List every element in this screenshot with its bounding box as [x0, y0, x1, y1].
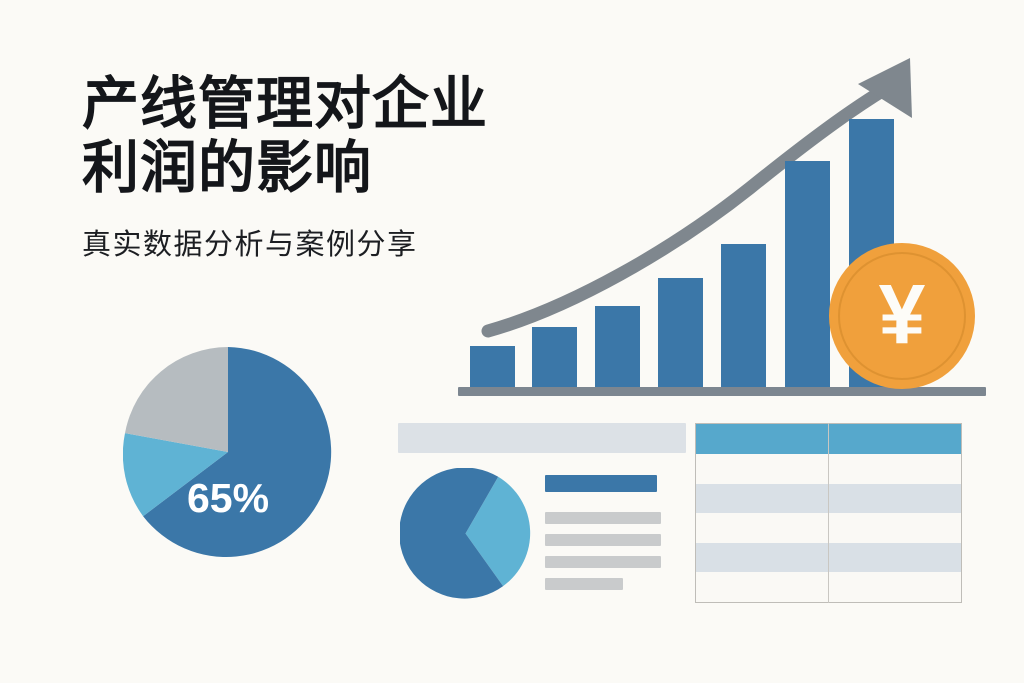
- panel-text-line-1: [545, 512, 661, 524]
- table-body: [696, 454, 962, 603]
- table-header-cell-2: [829, 424, 962, 455]
- panel-header-placeholder: [398, 423, 686, 453]
- table-row: [696, 543, 962, 573]
- table-cell: [696, 454, 829, 484]
- table-cell: [829, 484, 962, 514]
- table-cell: [829, 543, 962, 573]
- poster-canvas: 产线管理对企业 利润的影响 真实数据分析与案例分享 ¥ 65: [0, 0, 1024, 683]
- secondary-pie-svg: [400, 468, 531, 599]
- bar-1: [470, 346, 515, 388]
- table-header-row: [696, 424, 962, 455]
- table-header-cell-1: [696, 424, 829, 455]
- bar-3: [595, 306, 640, 388]
- primary-pie-svg: [123, 347, 333, 557]
- pie-center-label: 65%: [123, 475, 333, 522]
- table-row: [696, 513, 962, 543]
- yuan-symbol: ¥: [879, 272, 926, 356]
- table-cell: [829, 513, 962, 543]
- table-row: [696, 484, 962, 514]
- table-cell: [696, 484, 829, 514]
- panel-text-line-4: [545, 578, 623, 590]
- bar-5: [721, 244, 766, 388]
- data-table: [695, 423, 962, 603]
- table-cell: [829, 454, 962, 484]
- panel-accent-line: [545, 475, 657, 492]
- panel-text-line-2: [545, 534, 661, 546]
- table-cell: [696, 543, 829, 573]
- table-cell: [829, 572, 962, 602]
- yuan-coin-icon: ¥: [829, 243, 975, 389]
- panel-text-line-3: [545, 556, 661, 568]
- table-cell: [696, 572, 829, 602]
- table-cell: [696, 513, 829, 543]
- primary-pie-chart: 65%: [123, 347, 333, 557]
- secondary-pie-chart: [400, 468, 531, 599]
- bar-2: [532, 327, 577, 388]
- table-row: [696, 572, 962, 602]
- bar-6: [785, 161, 830, 388]
- table-header: [696, 424, 962, 455]
- table-row: [696, 454, 962, 484]
- bar-4: [658, 278, 703, 388]
